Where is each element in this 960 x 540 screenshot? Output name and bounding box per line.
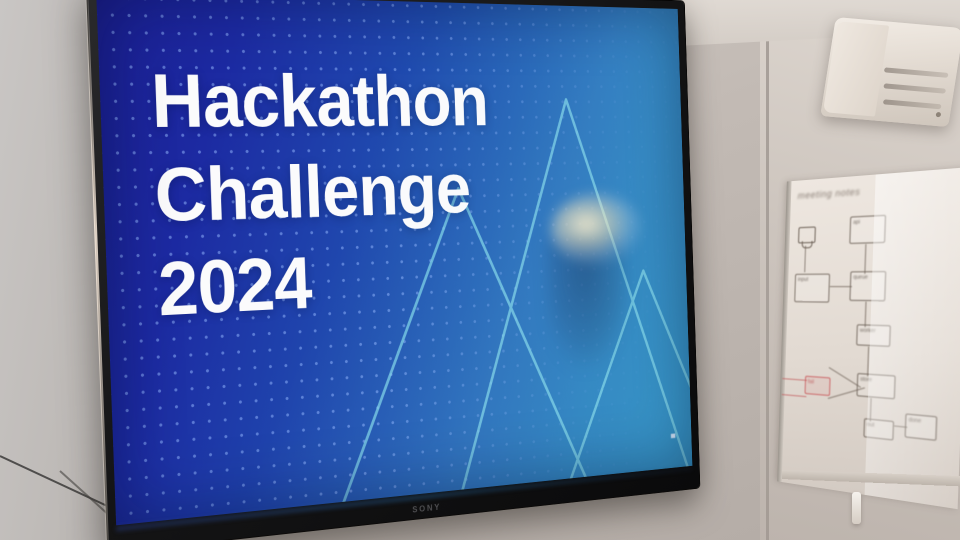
whiteboard-node-label: input	[798, 277, 809, 283]
slide-title-line-1: Hackathon	[150, 55, 631, 150]
screen-corner-indicator-icon	[671, 433, 676, 438]
slide-title: Hackathon Challenge 2024	[150, 55, 636, 338]
whiteboard-with-flowchart: meeting notes input api queue worker sto…	[777, 167, 960, 509]
whiteboard-connector-highlighted	[782, 394, 807, 397]
wall-corner-edge	[766, 0, 769, 540]
whiteboard-node-label: queue	[853, 274, 868, 280]
whiteboard-connector	[864, 244, 866, 274]
tv-brand-logo: SONY	[412, 502, 441, 514]
whiteboard-connector	[865, 302, 867, 328]
whiteboard-node: input	[794, 274, 830, 303]
flat-screen-tv: Hackathon Challenge 2024 SONY	[87, 0, 700, 540]
whiteboard-node-label: fail	[808, 379, 814, 386]
whiteboard-connector-highlighted	[782, 378, 807, 381]
slide-title-line-2: Challenge	[153, 144, 633, 244]
whiteboard-marker	[852, 492, 861, 524]
room-scene: meeting notes input api queue worker sto…	[0, 0, 960, 540]
whiteboard-node-highlighted: fail	[805, 376, 831, 396]
whiteboard-heading: meeting notes	[798, 186, 861, 201]
wall-mounted-ac-unit	[820, 17, 960, 127]
whiteboard-node-label: api	[853, 219, 860, 226]
whiteboard-connector	[830, 286, 852, 287]
whiteboard-glare	[864, 167, 960, 509]
tv-screen: Hackathon Challenge 2024	[96, 0, 692, 525]
whiteboard-actor-figure	[798, 226, 816, 243]
whiteboard-connector	[804, 246, 806, 273]
tv-bezel: Hackathon Challenge 2024 SONY	[87, 0, 700, 540]
